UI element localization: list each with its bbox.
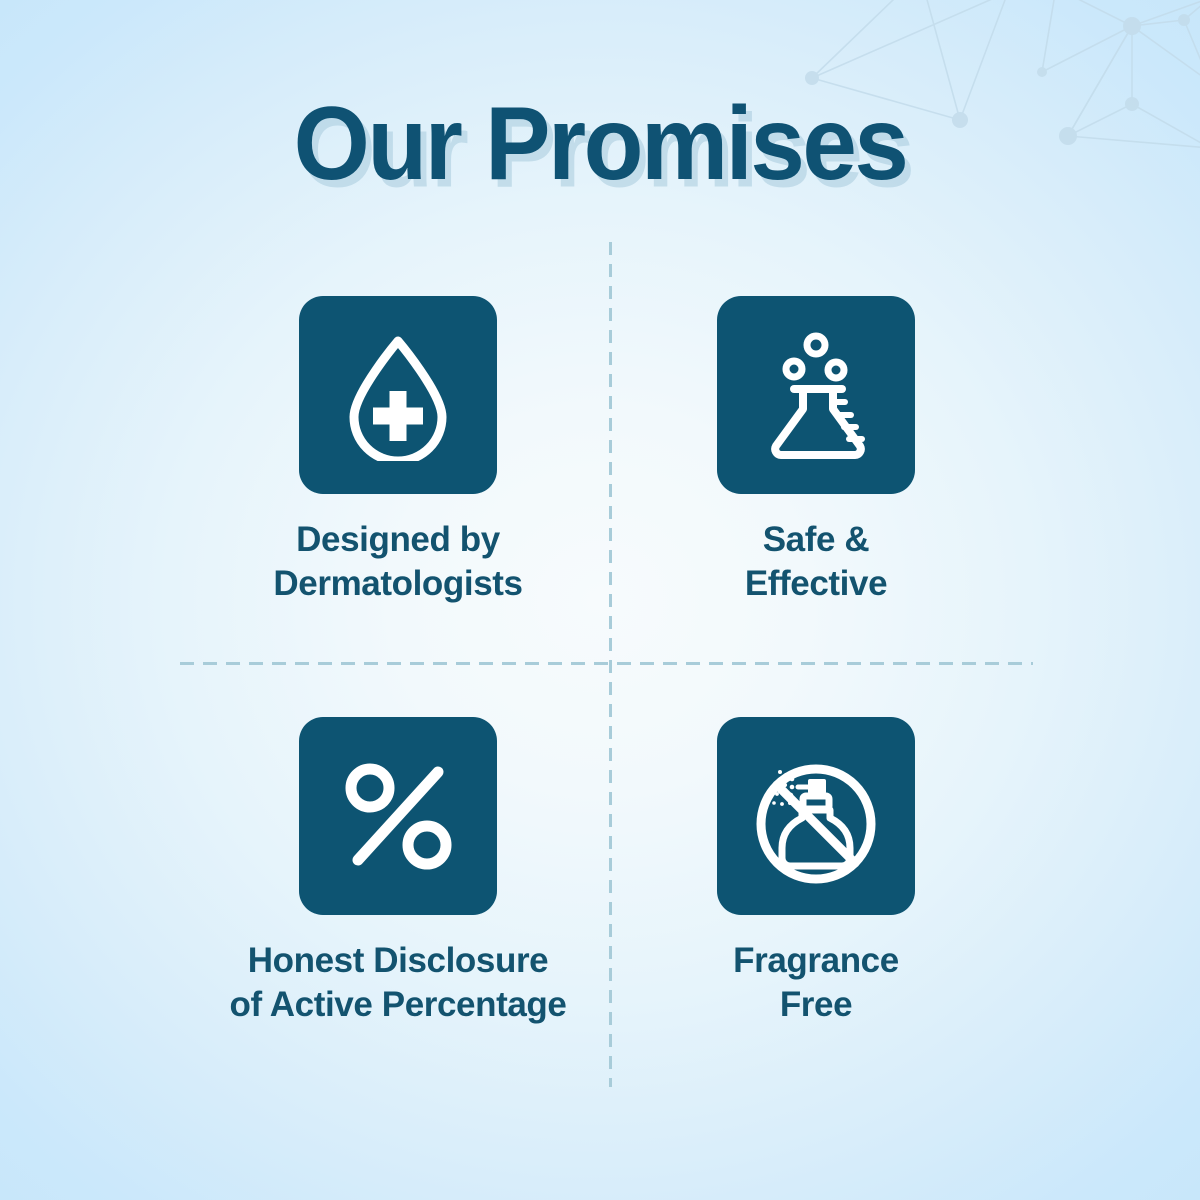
droplet-plus-icon (332, 329, 464, 461)
promise-card-fragrance-free: Fragrance Free (596, 717, 1036, 1027)
promise-label: Safe & Effective (745, 518, 887, 606)
promises-grid: Designed by Dermatologists (0, 250, 1200, 1100)
percent-icon (332, 750, 464, 882)
erlenmeyer-flask-icon (750, 329, 882, 461)
promise-icon-tile (717, 717, 915, 915)
page-title-wrapper: Our Promises (0, 92, 1200, 196)
promise-label: Designed by Dermatologists (273, 518, 522, 606)
promise-card-safe-and-effective: Safe & Effective (596, 296, 1036, 606)
page-title: Our Promises (294, 89, 907, 199)
promise-label: Fragrance Free (733, 939, 899, 1027)
promise-label: Honest Disclosure of Active Percentage (230, 939, 567, 1027)
promise-icon-tile (299, 717, 497, 915)
promise-card-honest-disclosure: Honest Disclosure of Active Percentage (178, 717, 618, 1027)
horizontal-divider (180, 662, 1033, 665)
promise-icon-tile (299, 296, 497, 494)
promise-icon-tile (717, 296, 915, 494)
promises-banner: Our Promises Designed by Dermatologists (0, 0, 1200, 1200)
no-fragrance-spray-icon (746, 746, 886, 886)
promise-card-designed-by-dermatologists: Designed by Dermatologists (178, 296, 618, 606)
